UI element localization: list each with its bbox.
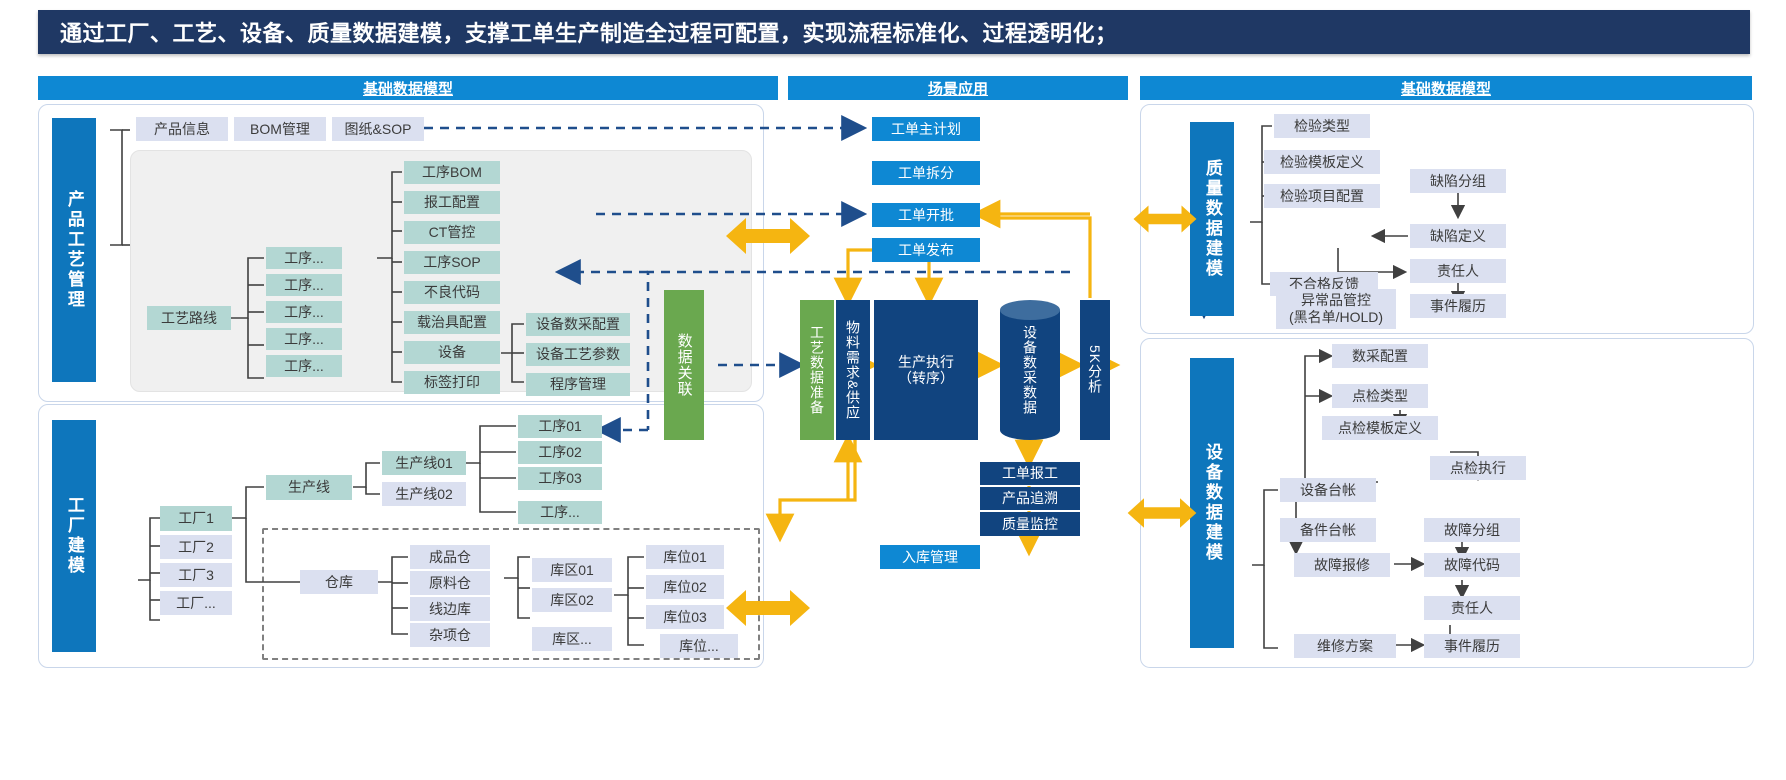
node-line-02[interactable]: 生产线02	[382, 482, 466, 506]
node-inspection-template[interactable]: 检验模板定义	[1264, 150, 1380, 174]
double-arrow-left-middle	[724, 212, 812, 260]
node-check-type[interactable]: 点检类型	[1332, 384, 1428, 408]
node-report-config[interactable]: 报工配置	[404, 191, 500, 214]
node-warehouse-material[interactable]: 原料仓	[410, 571, 490, 595]
node-defect-group[interactable]: 缺陷分组	[1410, 169, 1506, 193]
node-work-order-split[interactable]: 工单拆分	[872, 161, 980, 185]
header-middle-label: 场景应用	[928, 78, 988, 99]
node-fault-code[interactable]: 故障代码	[1424, 553, 1520, 577]
node-device-collected-data[interactable]: 设备数采数据	[1000, 300, 1060, 440]
node-fixture-config[interactable]: 载治具配置	[404, 311, 500, 334]
production-execution-line2: （转序）	[898, 370, 954, 386]
abnormal-control-line2: (黑名单/HOLD)	[1289, 309, 1383, 327]
node-process-1[interactable]: 工序...	[266, 274, 342, 296]
node-work-order-report[interactable]: 工单报工	[980, 462, 1080, 486]
node-line-process-more[interactable]: 工序...	[518, 501, 602, 524]
abnormal-control-line1: 异常品管控	[1301, 292, 1371, 310]
header-left: 基础数据模型	[38, 76, 778, 100]
node-process-0[interactable]: 工序...	[266, 247, 342, 269]
spine-factory: 工厂建模	[52, 420, 96, 652]
node-bom-mgmt[interactable]: BOM管理	[234, 117, 326, 141]
node-production-execution[interactable]: 生产执行 （转序）	[874, 300, 978, 440]
diagram-canvas: 通过工厂、工艺、设备、质量数据建模，支撑工单生产制造全过程可配置，实现流程标准化…	[0, 0, 1786, 780]
production-execution-line1: 生产执行	[898, 354, 954, 370]
spine-product-process: 产品工艺管理	[52, 118, 96, 382]
node-5k-analysis[interactable]: 5K分析	[1080, 300, 1110, 440]
header-left-label: 基础数据模型	[363, 78, 453, 99]
node-process-data-prep[interactable]: 工艺数据准备	[800, 300, 834, 440]
node-product-info[interactable]: 产品信息	[136, 117, 228, 141]
node-collect-config[interactable]: 数采配置	[1332, 344, 1428, 368]
node-defect-code[interactable]: 不良代码	[404, 281, 500, 304]
node-inspection-item-config[interactable]: 检验项目配置	[1264, 184, 1380, 208]
node-line-01[interactable]: 生产线01	[382, 451, 466, 475]
node-location-02[interactable]: 库位02	[646, 575, 724, 599]
node-location-01[interactable]: 库位01	[646, 545, 724, 569]
node-process-route[interactable]: 工艺路线	[147, 306, 231, 330]
node-process-4[interactable]: 工序...	[266, 355, 342, 377]
node-work-order-release-batch[interactable]: 工单开批	[872, 203, 980, 227]
node-equipment-event-history[interactable]: 事件履历	[1424, 634, 1520, 658]
node-program-mgmt[interactable]: 程序管理	[526, 373, 630, 396]
node-product-traceability[interactable]: 产品追溯	[980, 487, 1080, 511]
header-right-label: 基础数据模型	[1401, 78, 1491, 99]
node-process-3[interactable]: 工序...	[266, 328, 342, 350]
node-line-process-02[interactable]: 工序02	[518, 441, 602, 464]
double-arrow-equipment	[1126, 490, 1198, 536]
node-production-line-root[interactable]: 生产线	[266, 475, 352, 500]
node-warehouse-root[interactable]: 仓库	[300, 570, 378, 594]
node-device-collect-config[interactable]: 设备数采配置	[526, 313, 630, 336]
node-fault-group[interactable]: 故障分组	[1424, 518, 1520, 542]
node-work-order-publish[interactable]: 工单发布	[872, 238, 980, 262]
node-defect-definition[interactable]: 缺陷定义	[1410, 224, 1506, 248]
node-location-03[interactable]: 库位03	[646, 605, 724, 629]
header-right: 基础数据模型	[1140, 76, 1752, 100]
node-quality-monitor[interactable]: 质量监控	[980, 512, 1080, 536]
node-spare-ledger[interactable]: 备件台帐	[1280, 518, 1376, 542]
node-location-more[interactable]: 库位...	[660, 634, 738, 658]
node-repair-plan[interactable]: 维修方案	[1294, 634, 1396, 658]
node-process-2[interactable]: 工序...	[266, 301, 342, 323]
node-plant-3[interactable]: 工厂3	[160, 563, 232, 587]
node-quality-owner[interactable]: 责任人	[1410, 259, 1506, 283]
node-ct-control[interactable]: CT管控	[404, 221, 500, 244]
node-plant-1[interactable]: 工厂1	[160, 506, 232, 531]
node-device-ledger[interactable]: 设备台帐	[1280, 478, 1376, 502]
node-equipment[interactable]: 设备	[404, 341, 500, 364]
node-device-process-param[interactable]: 设备工艺参数	[526, 343, 630, 366]
node-zone-02[interactable]: 库区02	[532, 588, 612, 612]
node-abnormal-control[interactable]: 异常品管控 (黑名单/HOLD)	[1276, 289, 1396, 329]
node-quality-event-history[interactable]: 事件履历	[1410, 294, 1506, 318]
node-plant-more[interactable]: 工厂...	[160, 591, 232, 615]
device-collected-data-label: 设备数采数据	[1000, 300, 1060, 440]
node-work-order-master-plan[interactable]: 工单主计划	[872, 117, 980, 141]
node-line-process-01[interactable]: 工序01	[518, 415, 602, 438]
node-inbound-mgmt[interactable]: 入库管理	[880, 545, 980, 569]
node-label-print[interactable]: 标签打印	[404, 371, 500, 394]
page-title-banner: 通过工厂、工艺、设备、质量数据建模，支撑工单生产制造全过程可配置，实现流程标准化…	[38, 10, 1750, 54]
node-warehouse-misc[interactable]: 杂项仓	[410, 623, 490, 647]
node-drawing-sop[interactable]: 图纸&SOP	[332, 117, 424, 141]
node-zone-more[interactable]: 库区...	[532, 627, 612, 651]
node-line-process-03[interactable]: 工序03	[518, 467, 602, 490]
double-arrow-warehouse	[724, 584, 812, 632]
header-middle: 场景应用	[788, 76, 1128, 100]
double-arrow-quality	[1132, 198, 1198, 240]
page-title: 通过工厂、工艺、设备、质量数据建模，支撑工单生产制造全过程可配置，实现流程标准化…	[38, 16, 1118, 48]
node-process-sop[interactable]: 工序SOP	[404, 251, 500, 274]
node-material-demand-supply[interactable]: 物料需求&供应	[836, 300, 870, 440]
node-fault-repair-request[interactable]: 故障报修	[1294, 553, 1390, 577]
node-warehouse-lineside[interactable]: 线边库	[410, 597, 490, 621]
node-warehouse-finished[interactable]: 成品仓	[410, 545, 490, 569]
node-equipment-owner[interactable]: 责任人	[1424, 596, 1520, 620]
node-plant-2[interactable]: 工厂2	[160, 535, 232, 559]
node-check-template[interactable]: 点检模板定义	[1322, 416, 1438, 440]
node-inspection-type[interactable]: 检验类型	[1274, 114, 1370, 138]
node-data-link[interactable]: 数据关联	[664, 290, 704, 440]
node-check-execution[interactable]: 点检执行	[1430, 456, 1526, 480]
node-zone-01[interactable]: 库区01	[532, 558, 612, 582]
node-process-bom[interactable]: 工序BOM	[404, 161, 500, 184]
